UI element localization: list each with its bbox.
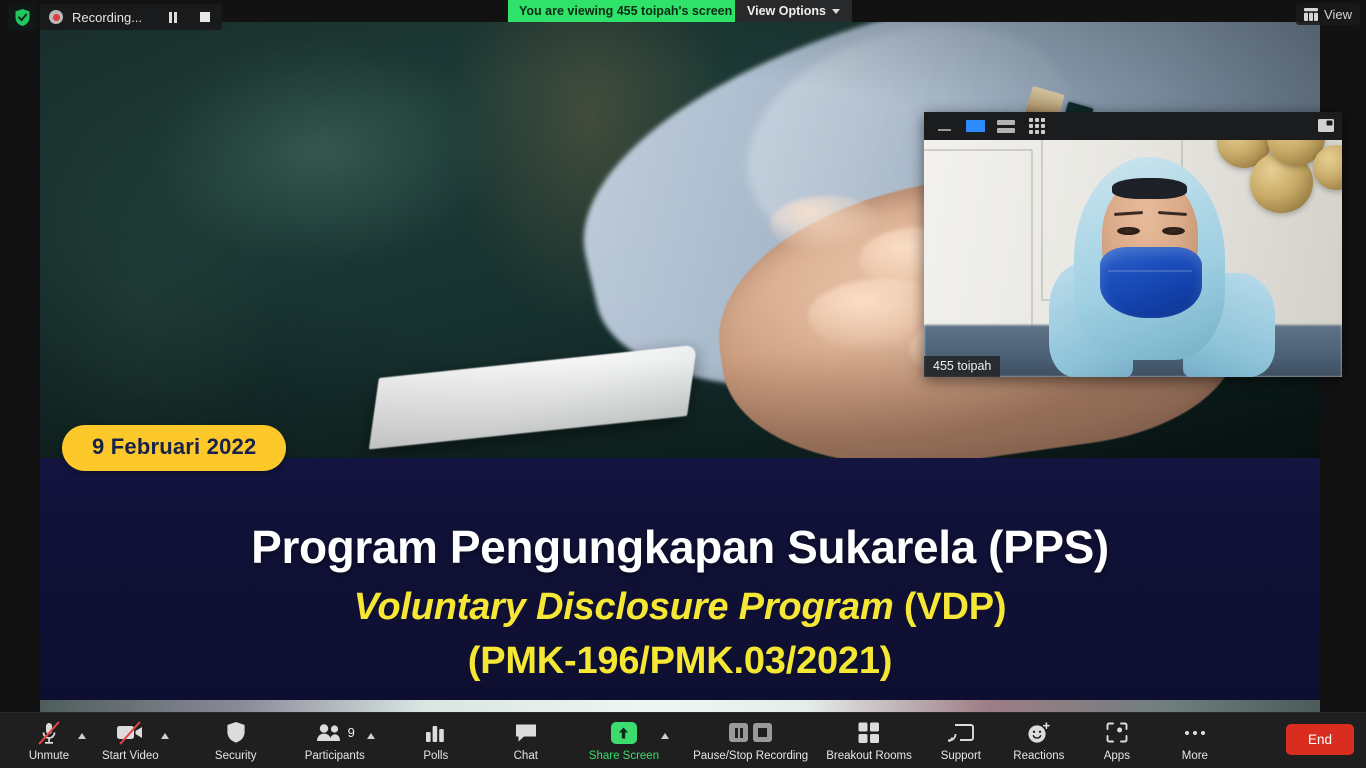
stop-icon[interactable] <box>200 12 210 22</box>
pause-icon[interactable] <box>169 12 177 23</box>
participant-face-mask <box>1100 247 1202 318</box>
apps-bracket-icon <box>1106 721 1128 745</box>
share-options-chevron-icon[interactable] <box>661 733 669 739</box>
unmute-label: Unmute <box>29 750 69 762</box>
participants-icon: 9 <box>315 721 355 745</box>
audio-options-chevron-icon[interactable] <box>78 733 86 739</box>
participants-button[interactable]: 9 Participants <box>305 713 365 768</box>
participant-eye <box>1162 227 1185 235</box>
participant-name-label: 455 toipah <box>924 356 1000 377</box>
support-cast-icon <box>948 721 974 745</box>
more-dots-icon <box>1185 721 1205 745</box>
video-panel-toolbar <box>924 112 1342 140</box>
share-screen-label: Share Screen <box>589 750 659 762</box>
view-button-label: View <box>1324 7 1352 22</box>
participant-hair-fringe <box>1112 178 1187 199</box>
gallery-view-icon[interactable] <box>1025 116 1049 136</box>
security-button[interactable]: Security <box>209 713 263 768</box>
stop-recording-icon[interactable] <box>753 723 772 742</box>
participant-video-panel: 455 toipah <box>924 112 1342 377</box>
active-speaker-view-icon[interactable] <box>963 116 987 136</box>
support-button[interactable]: Support <box>934 713 988 768</box>
encryption-shield-icon[interactable] <box>8 4 36 30</box>
reactions-button[interactable]: Reactions <box>1012 713 1066 768</box>
start-video-button[interactable]: Start Video <box>102 713 159 768</box>
apps-label: Apps <box>1104 750 1130 762</box>
polls-button[interactable]: Polls <box>409 713 463 768</box>
participant-eye <box>1117 227 1140 235</box>
breakout-rooms-button[interactable]: Breakout Rooms <box>826 713 912 768</box>
reactions-label: Reactions <box>1013 750 1064 762</box>
slide-regulation-number: (PMK-196/PMK.03/2021) <box>40 640 1320 683</box>
pause-stop-recording-icon <box>729 721 772 745</box>
chevron-down-icon <box>832 9 840 14</box>
share-screen-up-arrow-icon <box>611 721 637 745</box>
share-screen-button[interactable]: Share Screen <box>589 713 659 768</box>
filmstrip-view-icon[interactable] <box>994 116 1018 136</box>
mask-fold <box>1108 270 1192 272</box>
breakout-rooms-grid-icon <box>858 721 880 745</box>
slide-title: Program Pengungkapan Sukarela (PPS) <box>40 520 1320 574</box>
participant-video-feed[interactable]: 455 toipah <box>924 140 1342 377</box>
slide-subtitle: Voluntary Disclosure Program (VDP) <box>40 586 1320 629</box>
security-label: Security <box>215 750 257 762</box>
participants-count: 9 <box>348 725 355 740</box>
grid-view-icon <box>1304 8 1318 21</box>
microphone-muted-icon <box>40 721 58 745</box>
wall-moulding-panel <box>924 149 1033 353</box>
slide-bottom-photo-strip <box>40 700 1320 712</box>
more-label: More <box>1182 750 1208 762</box>
shield-icon <box>226 721 246 745</box>
chat-label: Chat <box>514 750 538 762</box>
record-dot-icon <box>49 10 63 24</box>
meeting-toolbar: Unmute Start Video <box>0 712 1366 768</box>
end-meeting-button[interactable]: End <box>1286 724 1354 755</box>
minimize-icon[interactable] <box>932 116 956 136</box>
recording-label: Recording... <box>72 10 142 25</box>
slide-subtitle-italic: Voluntary Disclosure Program <box>354 586 894 628</box>
view-options-button[interactable]: View Options <box>735 0 852 22</box>
polls-label: Polls <box>423 750 448 762</box>
breakout-rooms-label: Breakout Rooms <box>826 750 912 762</box>
participants-label: Participants <box>305 750 365 762</box>
polls-bar-chart-icon <box>425 721 447 745</box>
photo-paper <box>369 345 697 450</box>
reactions-smiley-plus-icon <box>1027 721 1051 745</box>
viewing-screen-banner: You are viewing 455 toipah's screen <box>508 0 743 22</box>
chat-button[interactable]: Chat <box>499 713 553 768</box>
unmute-button[interactable]: Unmute <box>22 713 76 768</box>
pause-stop-recording-label: Pause/Stop Recording <box>693 750 808 762</box>
slide-date-badge: 9 Februari 2022 <box>62 425 286 471</box>
more-button[interactable]: More <box>1168 713 1222 768</box>
video-options-chevron-icon[interactable] <box>161 733 169 739</box>
support-label: Support <box>941 750 981 762</box>
apps-button[interactable]: Apps <box>1090 713 1144 768</box>
shared-screen-stage: Program Pengungkapan Sukarela (PPS) Volu… <box>0 0 1366 712</box>
view-layout-button[interactable]: View <box>1296 3 1360 25</box>
pause-stop-recording-button[interactable]: Pause/Stop Recording <box>693 713 808 768</box>
view-options-label: View Options <box>747 4 826 18</box>
slide-text-panel: Program Pengungkapan Sukarela (PPS) Volu… <box>40 458 1320 700</box>
popout-window-icon[interactable] <box>1318 119 1334 132</box>
start-video-label: Start Video <box>102 750 159 762</box>
photo-knuckle <box>770 196 885 253</box>
zoom-meeting-window: Program Pengungkapan Sukarela (PPS) Volu… <box>0 0 1366 768</box>
chat-bubble-icon <box>514 721 538 745</box>
video-off-icon <box>116 721 144 745</box>
participants-options-chevron-icon[interactable] <box>367 733 375 739</box>
pause-recording-icon[interactable] <box>729 723 748 742</box>
slide-subtitle-abbrev: (VDP) <box>894 586 1007 628</box>
recording-indicator: Recording... <box>40 4 222 30</box>
